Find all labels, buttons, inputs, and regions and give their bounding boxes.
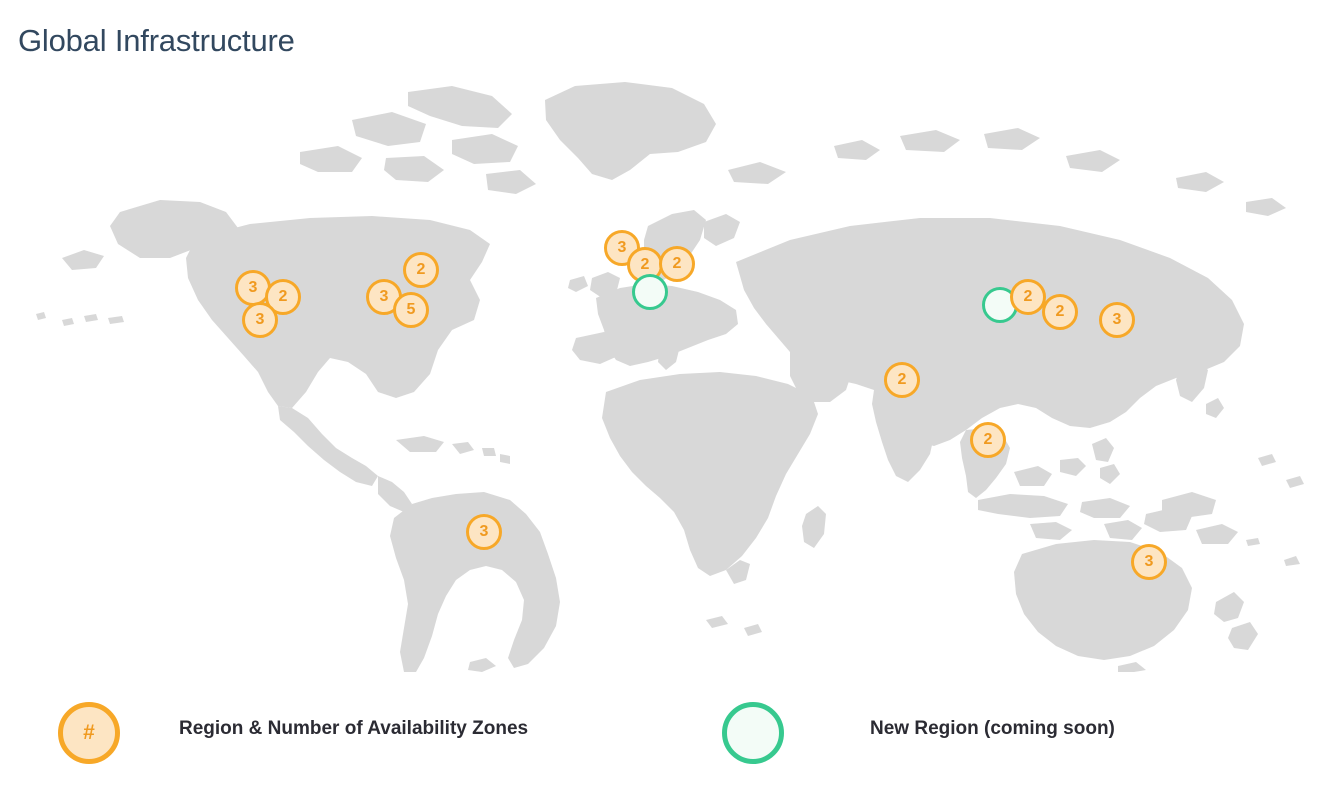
legend-new-region-swatch-icon <box>722 702 784 764</box>
map-marker-region: 2 <box>1010 279 1046 315</box>
global-infrastructure-page: Global Infrastructure <box>0 0 1324 792</box>
legend-region-label: Region & Number of Availability Zones <box>179 714 599 744</box>
world-map-container: 3232353322222233 <box>0 62 1324 672</box>
world-map-image <box>0 62 1324 672</box>
map-marker-region: 2 <box>1042 294 1078 330</box>
legend-item-new-region: New Region (coming soon) <box>722 702 1115 764</box>
map-marker-region: 3 <box>1131 544 1167 580</box>
map-marker-new-region <box>632 274 668 310</box>
map-marker-region: 3 <box>1099 302 1135 338</box>
legend-item-region: # Region & Number of Availability Zones <box>58 702 599 764</box>
map-marker-region: 3 <box>466 514 502 550</box>
map-marker-region: 2 <box>659 246 695 282</box>
map-marker-region: 3 <box>242 302 278 338</box>
legend-new-region-label: New Region (coming soon) <box>870 714 1115 744</box>
legend-region-swatch-icon: # <box>58 702 120 764</box>
map-marker-region: 2 <box>403 252 439 288</box>
map-marker-region: 2 <box>884 362 920 398</box>
map-marker-region: 2 <box>970 422 1006 458</box>
map-marker-region: 5 <box>393 292 429 328</box>
legend: # Region & Number of Availability Zones … <box>0 690 1324 792</box>
page-title: Global Infrastructure <box>18 21 295 61</box>
